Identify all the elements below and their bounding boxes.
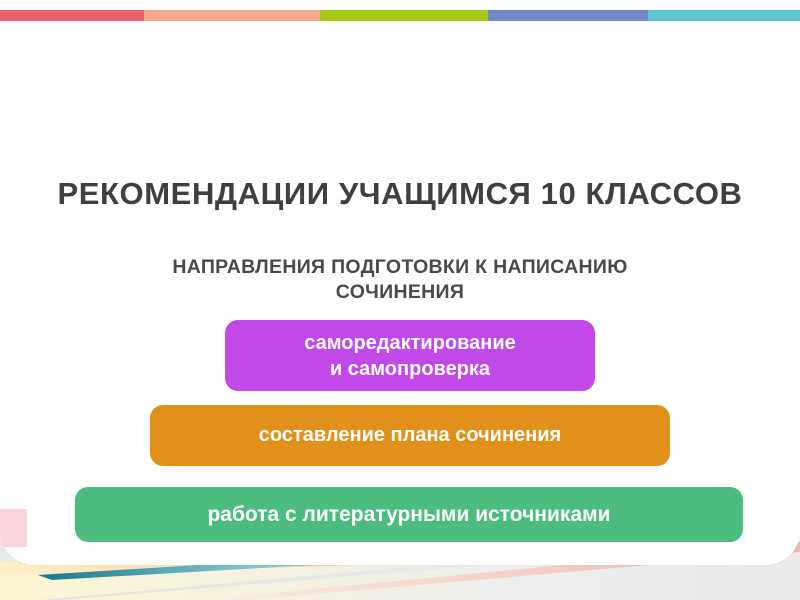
presentation-slide: РЕКОМЕНДАЦИИ УЧАЩИМСЯ 10 КЛАССОВ НАПРАВЛ… [0, 0, 800, 600]
slide-subtitle: НАПРАВЛЕНИЯ ПОДГОТОВКИ К НАПИСАНИЮ СОЧИН… [100, 255, 700, 305]
topbar-segment-blue [488, 10, 648, 21]
box-self-editing-line-2: и самопроверка [304, 356, 516, 382]
slide-title: РЕКОМЕНДАЦИИ УЧАЩИМСЯ 10 КЛАССОВ [0, 176, 800, 212]
topbar-segment-red [0, 10, 144, 21]
pink-accent-block [0, 509, 27, 547]
box-self-editing[interactable]: саморедактирование и самопроверка [225, 320, 595, 391]
box-self-editing-line-1: саморедактирование [304, 330, 516, 356]
slide-subtitle-line-2: СОЧИНЕНИЯ [100, 280, 700, 305]
box-literary-sources-label: работа с литературными источниками [207, 503, 610, 527]
topbar-segment-teal [648, 10, 800, 21]
topbar-segment-salmon [144, 10, 320, 21]
box-essay-plan[interactable]: составление плана сочинения [150, 405, 670, 466]
content-card: РЕКОМЕНДАЦИИ УЧАЩИМСЯ 10 КЛАССОВ НАПРАВЛ… [0, 0, 800, 565]
slide-subtitle-line-1: НАПРАВЛЕНИЯ ПОДГОТОВКИ К НАПИСАНИЮ [100, 255, 700, 280]
topbar [0, 10, 800, 21]
box-essay-plan-label: составление плана сочинения [259, 424, 561, 447]
topbar-segment-green [320, 10, 488, 21]
box-literary-sources[interactable]: работа с литературными источниками [75, 487, 743, 542]
